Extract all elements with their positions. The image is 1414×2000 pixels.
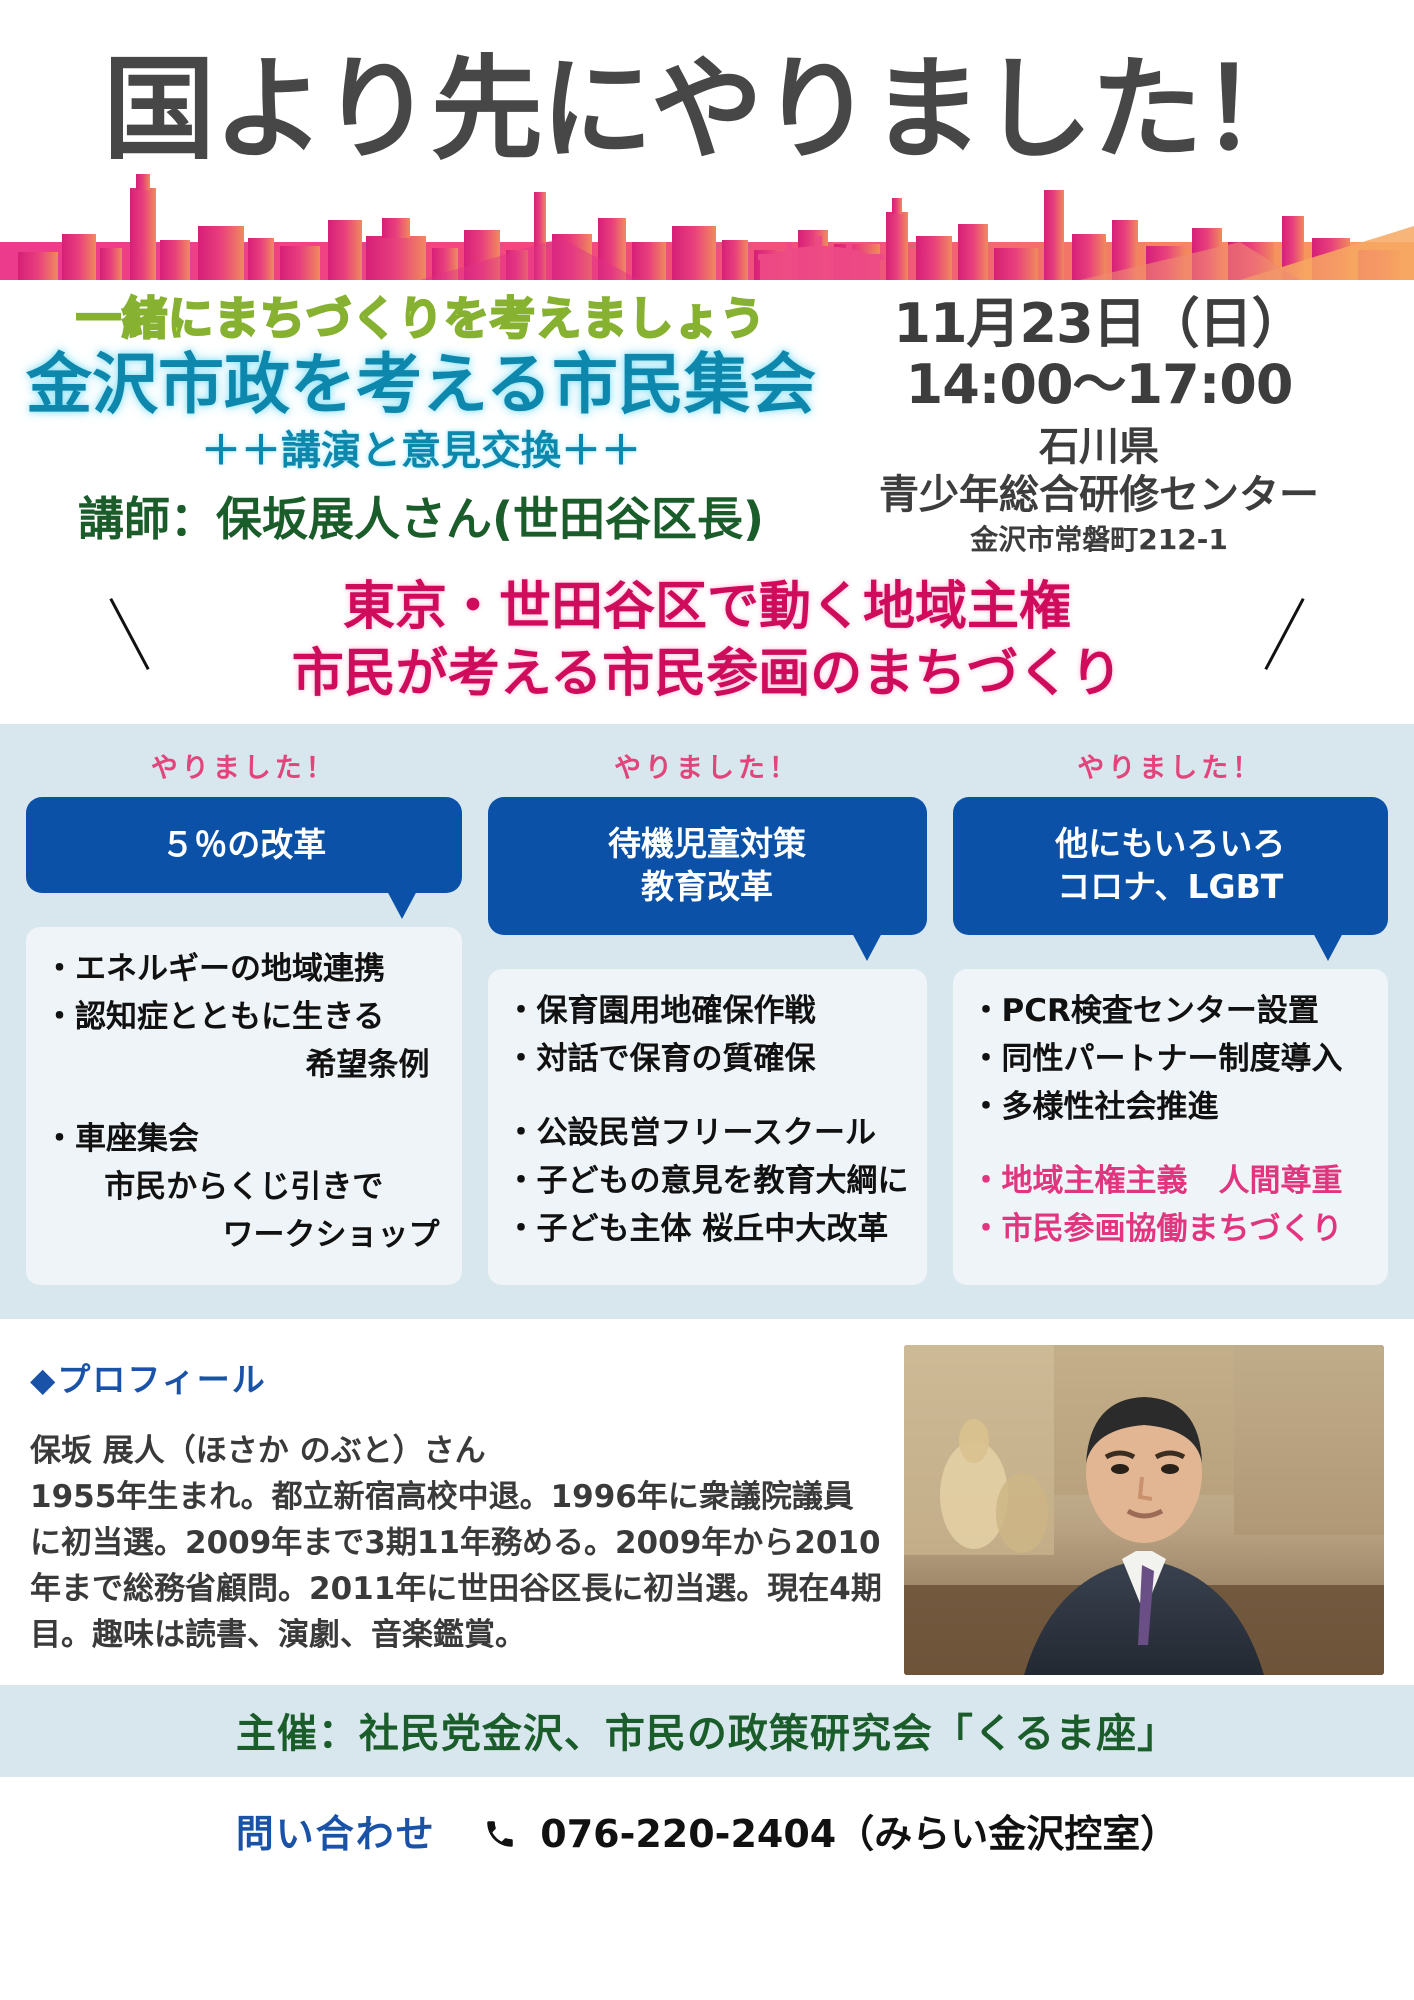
- achievement-column-1: やりました！ ５％の改革 ・エネルギーの地域連携 ・認知症とともに生きる 希望条…: [26, 746, 462, 1285]
- list-item: ・子どもの意見を教育大綱に: [506, 1159, 909, 1203]
- badge-label-1: やりました！: [26, 746, 462, 785]
- list-item: ・PCR検査センター設置: [971, 989, 1371, 1033]
- list-gap: [506, 1085, 909, 1111]
- list-item: 希望条例: [44, 1043, 444, 1087]
- tagline: 一緒にまちづくりを考えましょう: [22, 294, 820, 344]
- speaker-photo: [904, 1345, 1384, 1675]
- list-item: ・認知症とともに生きる: [44, 995, 444, 1039]
- list-item: ・車座集会: [44, 1117, 444, 1161]
- organizer-band: 主催：社民党金沢、市民の政策研究会「くるま座」: [0, 1685, 1414, 1777]
- event-date: 11月23日（日）: [820, 294, 1378, 354]
- list-item: ・同性パートナー制度導入: [971, 1037, 1371, 1081]
- achievement-list-1: ・エネルギーの地域連携 ・認知症とともに生きる 希望条例 ・車座集会 市民からく…: [26, 927, 462, 1285]
- list-item: ・市民参画協働まちづくり: [971, 1207, 1371, 1251]
- achievement-title-3: 他にもいろいろ コロナ、LGBT: [953, 797, 1389, 935]
- list-item: ワークショップ: [44, 1213, 444, 1257]
- achievement-title-text-3a: 他にもいろいろ: [1055, 823, 1285, 866]
- poster-root: 国より先にやりました！ 一緒にまちづくりを考えましょう 金沢市政を考える市民集会…: [0, 0, 1414, 2000]
- headline-line-1: 東京・世田谷区で動く地域主権: [0, 574, 1414, 641]
- achievement-title-2: 待機児童対策 教育改革: [488, 797, 927, 935]
- speaker-photo-illustration: [904, 1345, 1384, 1675]
- contact-line: 問い合わせ 076-220-2404（みらい金沢控室）: [0, 1777, 1414, 1860]
- venue-address: 金沢市常磐町212-1: [820, 523, 1378, 557]
- list-item: ・地域主権主義 人間尊重: [971, 1159, 1371, 1203]
- profile-heading: ◆プロフィール: [30, 1353, 882, 1401]
- list-item: 市民からくじ引きで: [44, 1165, 444, 1209]
- list-item: ・公設民営フリースクール: [506, 1111, 909, 1155]
- achievement-list-2: ・保育園用地確保作戦 ・対話で保育の質確保 ・公設民営フリースクール ・子どもの…: [488, 969, 927, 1285]
- venue-prefecture: 石川県: [820, 423, 1378, 471]
- speaker-line: 講師：保坂展人さん(世田谷区長): [22, 493, 820, 546]
- achievements-section: やりました！ ５％の改革 ・エネルギーの地域連携 ・認知症とともに生きる 希望条…: [0, 724, 1414, 1319]
- achievement-title-text-2a: 待機児童対策: [608, 823, 806, 866]
- headline-block: 東京・世田谷区で動く地域主権 市民が考える市民参画のまちづくり: [0, 574, 1414, 724]
- event-info-left: 一緒にまちづくりを考えましょう 金沢市政を考える市民集会 ＋＋講演と意見交換＋＋…: [0, 294, 820, 556]
- list-item: ・対話で保育の質確保: [506, 1037, 909, 1081]
- badge-label-2: やりました！: [488, 746, 927, 785]
- headline-line-2: 市民が考える市民参画のまちづくり: [0, 641, 1414, 708]
- achievement-title-text-1: ５％の改革: [161, 824, 326, 867]
- profile-body: 保坂 展人（ほさか のぶと）さん 1955年生まれ。都立新宿高校中退。1996年…: [30, 1429, 882, 1658]
- venue-name: 青少年総合研修センター: [820, 471, 1378, 519]
- achievement-column-2: やりました！ 待機児童対策 教育改革 ・保育園用地確保作戦 ・対話で保育の質確保…: [488, 746, 927, 1285]
- hero-title: 国より先にやりました！: [0, 52, 1414, 170]
- phone-icon: [483, 1816, 517, 1860]
- achievement-title-text-3b: コロナ、LGBT: [1055, 866, 1285, 909]
- event-info: 一緒にまちづくりを考えましょう 金沢市政を考える市民集会 ＋＋講演と意見交換＋＋…: [0, 280, 1414, 556]
- list-item: ・保育園用地確保作戦: [506, 989, 909, 1033]
- achievement-column-3: やりました！ 他にもいろいろ コロナ、LGBT ・PCR検査センター設置 ・同性…: [953, 746, 1389, 1285]
- contact-label: 問い合わせ: [236, 1812, 436, 1856]
- achievement-title-text-2b: 教育改革: [608, 866, 806, 909]
- hero-banner: 国より先にやりました！: [0, 0, 1414, 280]
- event-info-right: 11月23日（日） 14:00〜17:00 石川県 青少年総合研修センター 金沢…: [820, 294, 1414, 556]
- sub-title: ＋＋講演と意見交換＋＋: [22, 427, 820, 475]
- profile-section: ◆プロフィール 保坂 展人（ほさか のぶと）さん 1955年生まれ。都立新宿高校…: [0, 1319, 1414, 1685]
- profile-text: ◆プロフィール 保坂 展人（ほさか のぶと）さん 1955年生まれ。都立新宿高校…: [30, 1345, 882, 1675]
- badge-label-3: やりました！: [953, 746, 1389, 785]
- list-gap: [971, 1133, 1371, 1159]
- list-item: ・子ども主体 桜丘中大改革: [506, 1207, 909, 1251]
- achievement-list-3: ・PCR検査センター設置 ・同性パートナー制度導入 ・多様性社会推進 ・地域主権…: [953, 969, 1389, 1285]
- list-gap: [44, 1091, 444, 1117]
- event-time: 14:00〜17:00: [820, 354, 1378, 416]
- achievement-title-1: ５％の改革: [26, 797, 462, 893]
- main-title: 金沢市政を考える市民集会: [22, 348, 820, 422]
- list-item: ・エネルギーの地域連携: [44, 947, 444, 991]
- list-item: ・多様性社会推進: [971, 1085, 1371, 1129]
- contact-phone: 076-220-2404（みらい金沢控室）: [540, 1812, 1178, 1856]
